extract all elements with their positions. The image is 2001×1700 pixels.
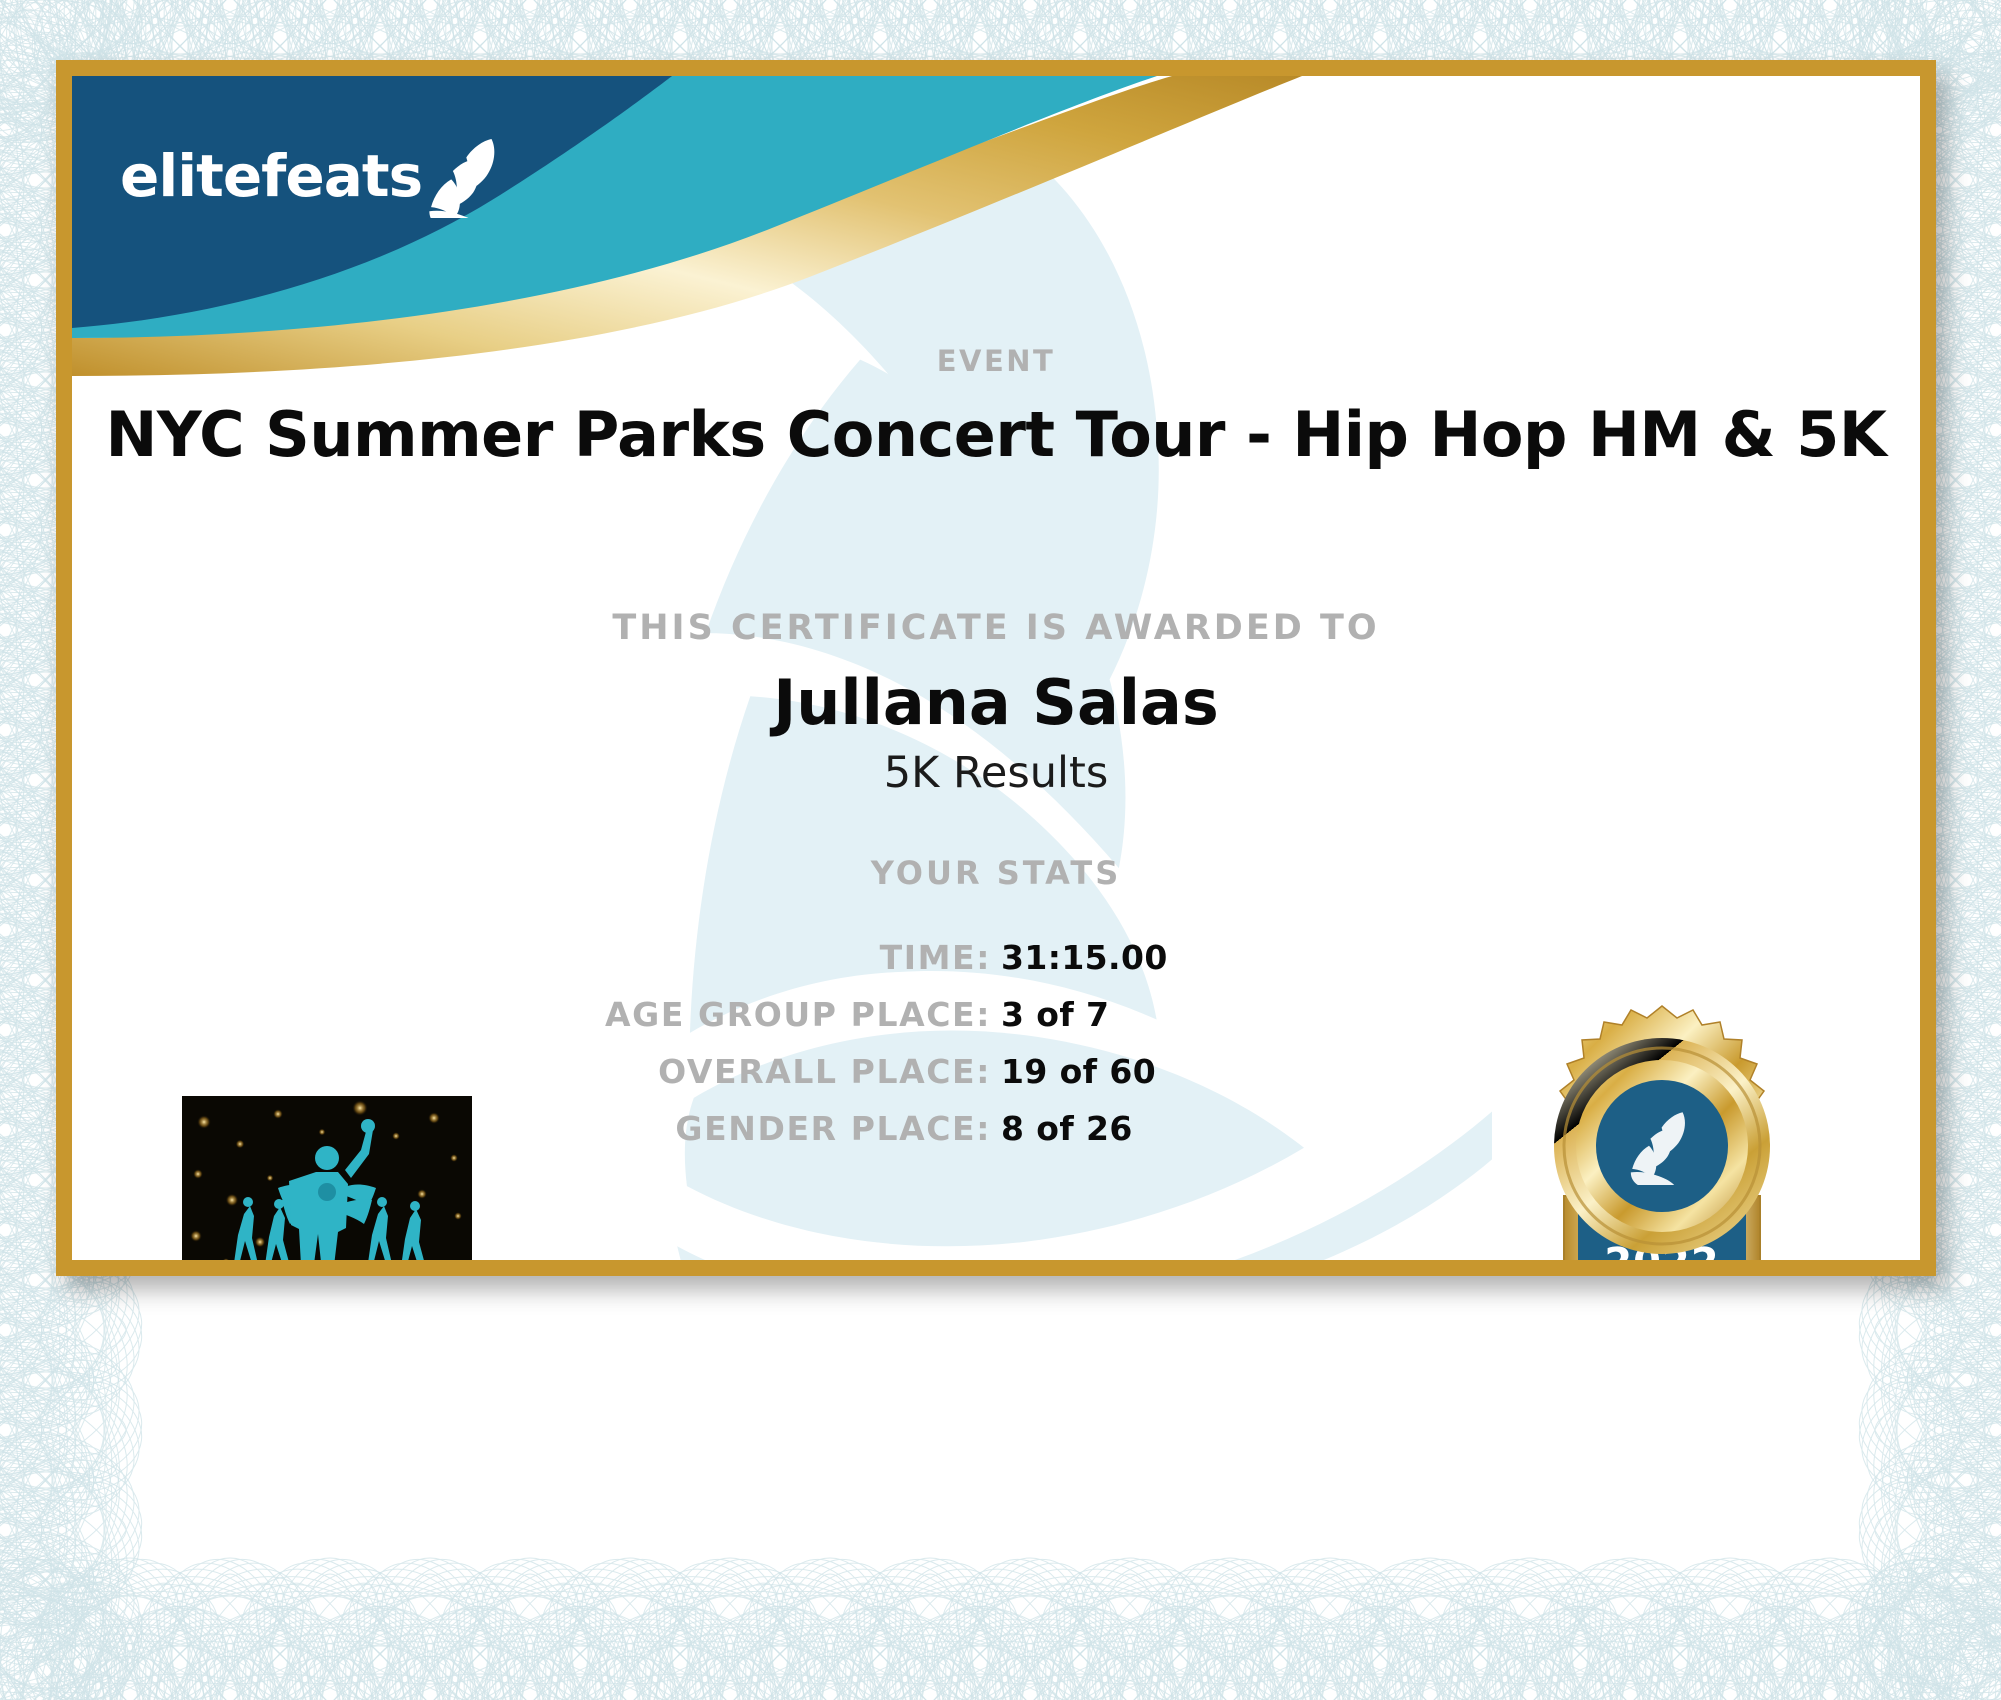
brand-logo: elitefeats — [120, 134, 510, 218]
stat-row: TIME: 31:15.00 — [72, 938, 1920, 977]
stat-value: 31:15.00 — [1001, 938, 1561, 977]
certificate-page: elitefeats EVENT NYC Summer Parks Concer… — [0, 0, 2001, 1700]
header-swoosh-art — [72, 76, 1920, 376]
stat-key: OVERALL PLACE: — [431, 1052, 1001, 1091]
brand-wordmark: elitefeats — [120, 147, 422, 205]
event-title: NYC Summer Parks Concert Tour - Hip Hop … — [72, 398, 1920, 471]
finisher-medal-badge: 2022 — [1512, 996, 1812, 1260]
your-stats-label: YOUR STATS — [72, 854, 1920, 892]
certificate-frame: elitefeats EVENT NYC Summer Parks Concer… — [56, 60, 1936, 1276]
certificate-body: elitefeats EVENT NYC Summer Parks Concer… — [72, 76, 1920, 1260]
stat-key: TIME: — [431, 938, 1001, 977]
stat-key: GENDER PLACE: — [431, 1109, 1001, 1148]
winged-foot-icon — [426, 134, 510, 218]
stat-key: AGE GROUP PLACE: — [431, 995, 1001, 1034]
event-logo-image: NYC Summer PARKS CONCERT TOUR 2022 — [182, 1096, 472, 1260]
event-logo-art: NYC Summer PARKS CONCERT TOUR 2022 — [182, 1096, 472, 1260]
stat-value: 8 of 26 — [1001, 1109, 1561, 1148]
result-subtitle: 5K Results — [72, 748, 1920, 798]
recipient-name: Jullana Salas — [72, 666, 1920, 739]
stat-value: 19 of 60 — [1001, 1052, 1561, 1091]
stat-value: 3 of 7 — [1001, 995, 1561, 1034]
event-label: EVENT — [72, 344, 1920, 378]
awarded-to-label: THIS CERTIFICATE IS AWARDED TO — [72, 608, 1920, 648]
